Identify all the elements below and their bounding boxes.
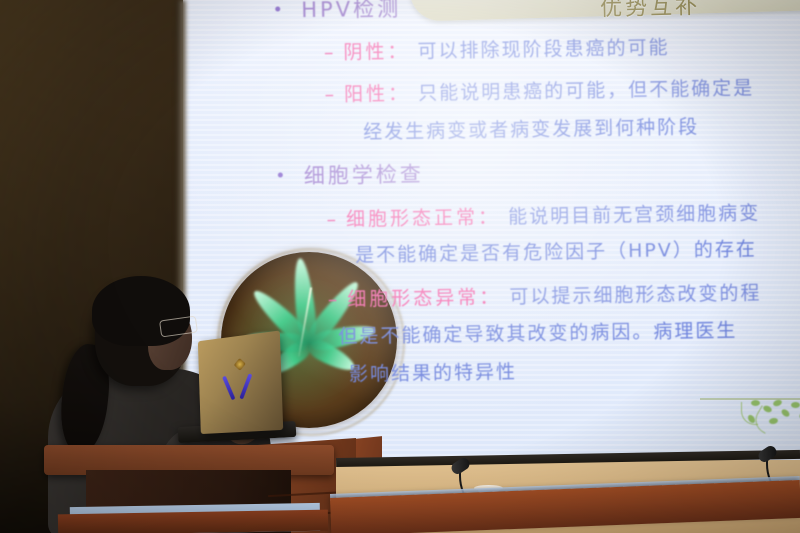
slide-body: 可以排除现阶段患癌的可能 [417, 36, 669, 62]
bullet-dot [278, 172, 283, 177]
laptop-logo-icon [223, 372, 256, 399]
slide-dash: – [326, 209, 338, 231]
slide-line-4: 经发生病变或者病变发展到何种阶段 [363, 112, 699, 144]
bullet-dot [275, 6, 280, 11]
slide-line-5: 细胞学检查 [304, 158, 424, 190]
slide-dash: – [328, 289, 340, 311]
slide-line-10: 影响结果的特异性 [349, 357, 517, 387]
left-table-edge [58, 510, 328, 533]
laptop-badge-icon [234, 358, 246, 371]
slide-body: 只能说明患癌的可能，但不能确定是 [418, 77, 754, 104]
slide-keyword: 阳性： [344, 82, 410, 105]
slide-body: 可以提示细胞形态改变的程 [509, 282, 761, 308]
slide-line-9: 但是不能确定导致其改变的病因。病理医生 [338, 315, 737, 348]
slide-line-1: HPV检测 [301, 0, 401, 24]
slide-keyword: 细胞形态正常： [346, 206, 500, 230]
glasses-icon [159, 316, 198, 338]
slide-line-7: 是不能确定是否有危险因子（HPV）的存在 [355, 234, 757, 267]
lecture-hall-photo: 优势互补 HPV检测 – 阴性： 可以排除现阶段患癌的可能 – 阳性： 只能说明… [0, 0, 800, 533]
slide-keyword: 细胞形态异常： [347, 286, 501, 310]
slide-keyword: 阴性： [343, 40, 409, 63]
slide-body: 能说明目前无宫颈细胞病变 [508, 202, 760, 228]
slide-dash: – [324, 42, 336, 64]
laptop-lid [198, 330, 283, 434]
slide-dash: – [324, 84, 336, 106]
